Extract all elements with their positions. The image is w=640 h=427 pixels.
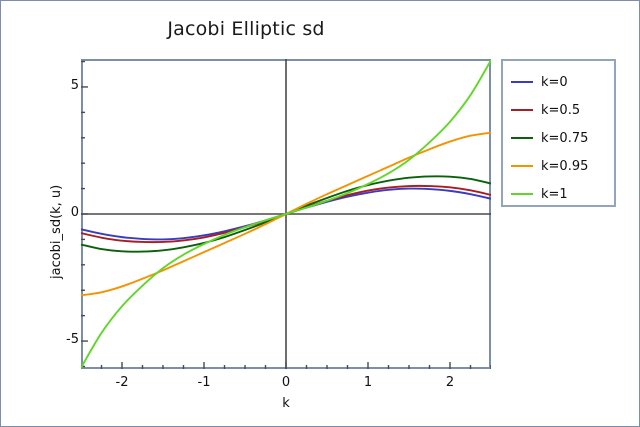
x-tick-label: -1 <box>184 375 224 390</box>
legend: k=0k=0.5k=0.75k=0.95k=1 <box>501 59 616 207</box>
legend-item-k-0[interactable]: k=0 <box>511 71 568 93</box>
plot-canvas <box>81 59 491 369</box>
x-tick-label: 2 <box>430 375 470 390</box>
x-tick-label: -2 <box>102 375 142 390</box>
legend-item-label: k=1 <box>541 187 568 202</box>
page-title: Jacobi Elliptic sd <box>1 18 491 40</box>
legend-swatch-icon <box>511 193 533 195</box>
legend-swatch-icon <box>511 81 533 83</box>
y-tick-label: 0 <box>39 205 79 220</box>
legend-item-label: k=0 <box>541 75 568 90</box>
x-axis-label: k <box>81 396 491 411</box>
y-tick-label: -5 <box>39 332 79 347</box>
legend-item-k-1[interactable]: k=1 <box>511 183 568 205</box>
plot-area: jacobi_sd(k, u) k 50-5 -2-1012 <box>81 59 491 369</box>
legend-item-k-0-75[interactable]: k=0.75 <box>511 127 588 149</box>
x-tick-label: 1 <box>348 375 388 390</box>
legend-swatch-icon <box>511 137 533 139</box>
y-tick-label: 5 <box>39 78 79 93</box>
legend-item-k-0-5[interactable]: k=0.5 <box>511 99 580 121</box>
legend-item-k-0-95[interactable]: k=0.95 <box>511 155 588 177</box>
y-axis-label: jacobi_sd(k, u) <box>49 185 64 279</box>
legend-swatch-icon <box>511 109 533 111</box>
legend-swatch-icon <box>511 165 533 167</box>
legend-item-label: k=0.5 <box>541 103 580 118</box>
chart-window: Jacobi Elliptic sd jacobi_sd(k, u) k 50-… <box>0 0 640 427</box>
x-tick-label: 0 <box>266 375 306 390</box>
legend-item-label: k=0.95 <box>541 159 588 174</box>
legend-item-label: k=0.75 <box>541 131 588 146</box>
